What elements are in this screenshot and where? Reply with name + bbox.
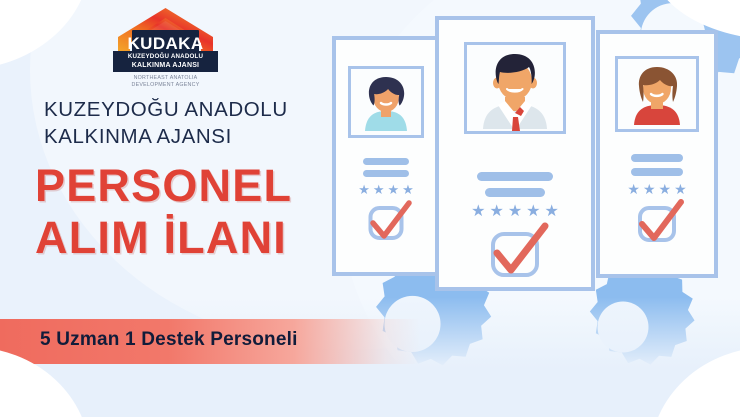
star-icon: ★ xyxy=(526,204,540,220)
star-icon: ★ xyxy=(508,204,522,220)
star-icon: ★ xyxy=(627,182,640,196)
headline-line-1: PERSONEL xyxy=(35,160,365,212)
poster-canvas: ★ ★ ★ ★ ★ ★ ★ ★ xyxy=(0,0,740,417)
rating-stars-center: ★ ★ ★ ★ ★ xyxy=(471,204,559,220)
text-bar-primary-right xyxy=(631,154,683,162)
text-bar-primary-left xyxy=(363,158,409,165)
star-icon: ★ xyxy=(659,182,672,196)
avatar-female-dark-hair xyxy=(351,69,421,135)
logo-english-line-2: DEVELOPMENT AGENCY xyxy=(113,82,218,89)
avatar-male-dark-hair xyxy=(467,45,563,131)
kudaka-logo: KUDAKA KUZEYDOĞU ANADOLU KALKINMA AJANSI… xyxy=(113,6,218,92)
rating-stars-left: ★ ★ ★ ★ xyxy=(358,183,414,196)
avatar-female-brown-hair xyxy=(618,59,696,129)
logo-subline-2: KALKINMA AJANSI xyxy=(115,62,216,70)
logo-english-line-1: NORTHEAST ANATOLIA xyxy=(113,75,218,82)
star-icon: ★ xyxy=(545,204,559,220)
checkmark-icon xyxy=(634,197,688,249)
text-bar-primary-center xyxy=(477,172,553,181)
rating-stars-right: ★ ★ ★ ★ xyxy=(627,182,686,196)
photo-frame-left xyxy=(348,66,424,138)
checkmark-icon xyxy=(366,198,416,246)
id-card-right: ★ ★ ★ ★ xyxy=(596,30,718,278)
star-icon: ★ xyxy=(489,204,503,220)
checkmark-icon xyxy=(487,220,553,282)
logo-subline-1: KUZEYDOĞU ANADOLU xyxy=(115,53,216,61)
agency-subtitle: KUZEYDOĞU ANADOLU KALKINMA AJANSI xyxy=(44,96,324,150)
position-banner-text: 5 Uzman 1 Destek Personeli xyxy=(40,329,298,351)
star-icon: ★ xyxy=(643,182,656,196)
star-icon: ★ xyxy=(373,183,385,196)
headline: PERSONEL ALIM İLANI xyxy=(35,160,365,264)
agency-subtitle-line-1: KUZEYDOĞU ANADOLU xyxy=(44,96,324,123)
agency-subtitle-line-2: KALKINMA AJANSI xyxy=(44,123,324,150)
text-bar-secondary-center xyxy=(485,188,545,197)
star-icon: ★ xyxy=(388,183,400,196)
text-bar-secondary-left xyxy=(363,170,409,177)
photo-frame-center xyxy=(464,42,566,134)
photo-frame-right xyxy=(615,56,699,132)
star-icon: ★ xyxy=(471,204,485,220)
headline-line-2: ALIM İLANI xyxy=(35,212,365,264)
id-card-center: ★ ★ ★ ★ ★ xyxy=(435,16,595,291)
text-bar-secondary-right xyxy=(631,168,683,176)
star-icon: ★ xyxy=(402,183,414,196)
star-icon: ★ xyxy=(674,182,687,196)
